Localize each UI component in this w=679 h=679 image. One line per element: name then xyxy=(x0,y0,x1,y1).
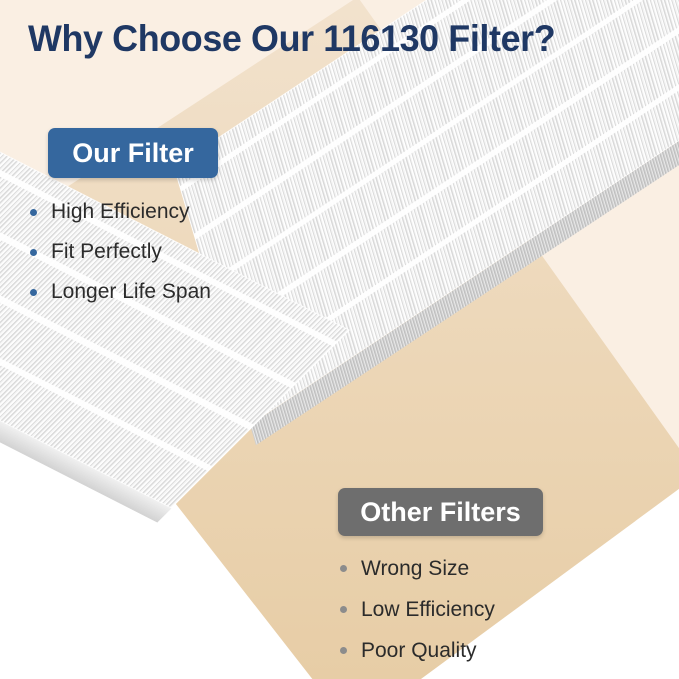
bullet-dot-icon xyxy=(340,606,347,613)
list-item: Poor Quality xyxy=(340,630,495,671)
list-item-label: Low Efficiency xyxy=(361,598,495,622)
content-layer: Why Choose Our 116130 Filter? Our Filter… xyxy=(0,0,679,679)
page-title: Why Choose Our 116130 Filter? xyxy=(28,18,649,60)
list-item: Low Efficiency xyxy=(340,589,495,630)
list-item: Longer Life Span xyxy=(30,272,211,312)
list-item-label: Longer Life Span xyxy=(51,280,211,304)
bullet-dot-icon xyxy=(30,209,37,216)
list-item: Wrong Size xyxy=(340,548,495,589)
list-item-label: High Efficiency xyxy=(51,200,190,224)
bullet-dot-icon xyxy=(30,249,37,256)
bullet-dot-icon xyxy=(30,289,37,296)
infographic-canvas: Why Choose Our 116130 Filter? Our Filter… xyxy=(0,0,679,679)
list-item-label: Poor Quality xyxy=(361,639,477,663)
list-item-label: Fit Perfectly xyxy=(51,240,162,264)
other-filters-badge: Other Filters xyxy=(338,488,543,536)
our-filter-benefit-list: High Efficiency Fit Perfectly Longer Lif… xyxy=(30,192,211,312)
other-filters-drawback-list: Wrong Size Low Efficiency Poor Quality xyxy=(340,548,495,671)
our-filter-badge: Our Filter xyxy=(48,128,218,178)
list-item: Fit Perfectly xyxy=(30,232,211,272)
list-item: High Efficiency xyxy=(30,192,211,232)
list-item-label: Wrong Size xyxy=(361,557,469,581)
bullet-dot-icon xyxy=(340,565,347,572)
bullet-dot-icon xyxy=(340,647,347,654)
